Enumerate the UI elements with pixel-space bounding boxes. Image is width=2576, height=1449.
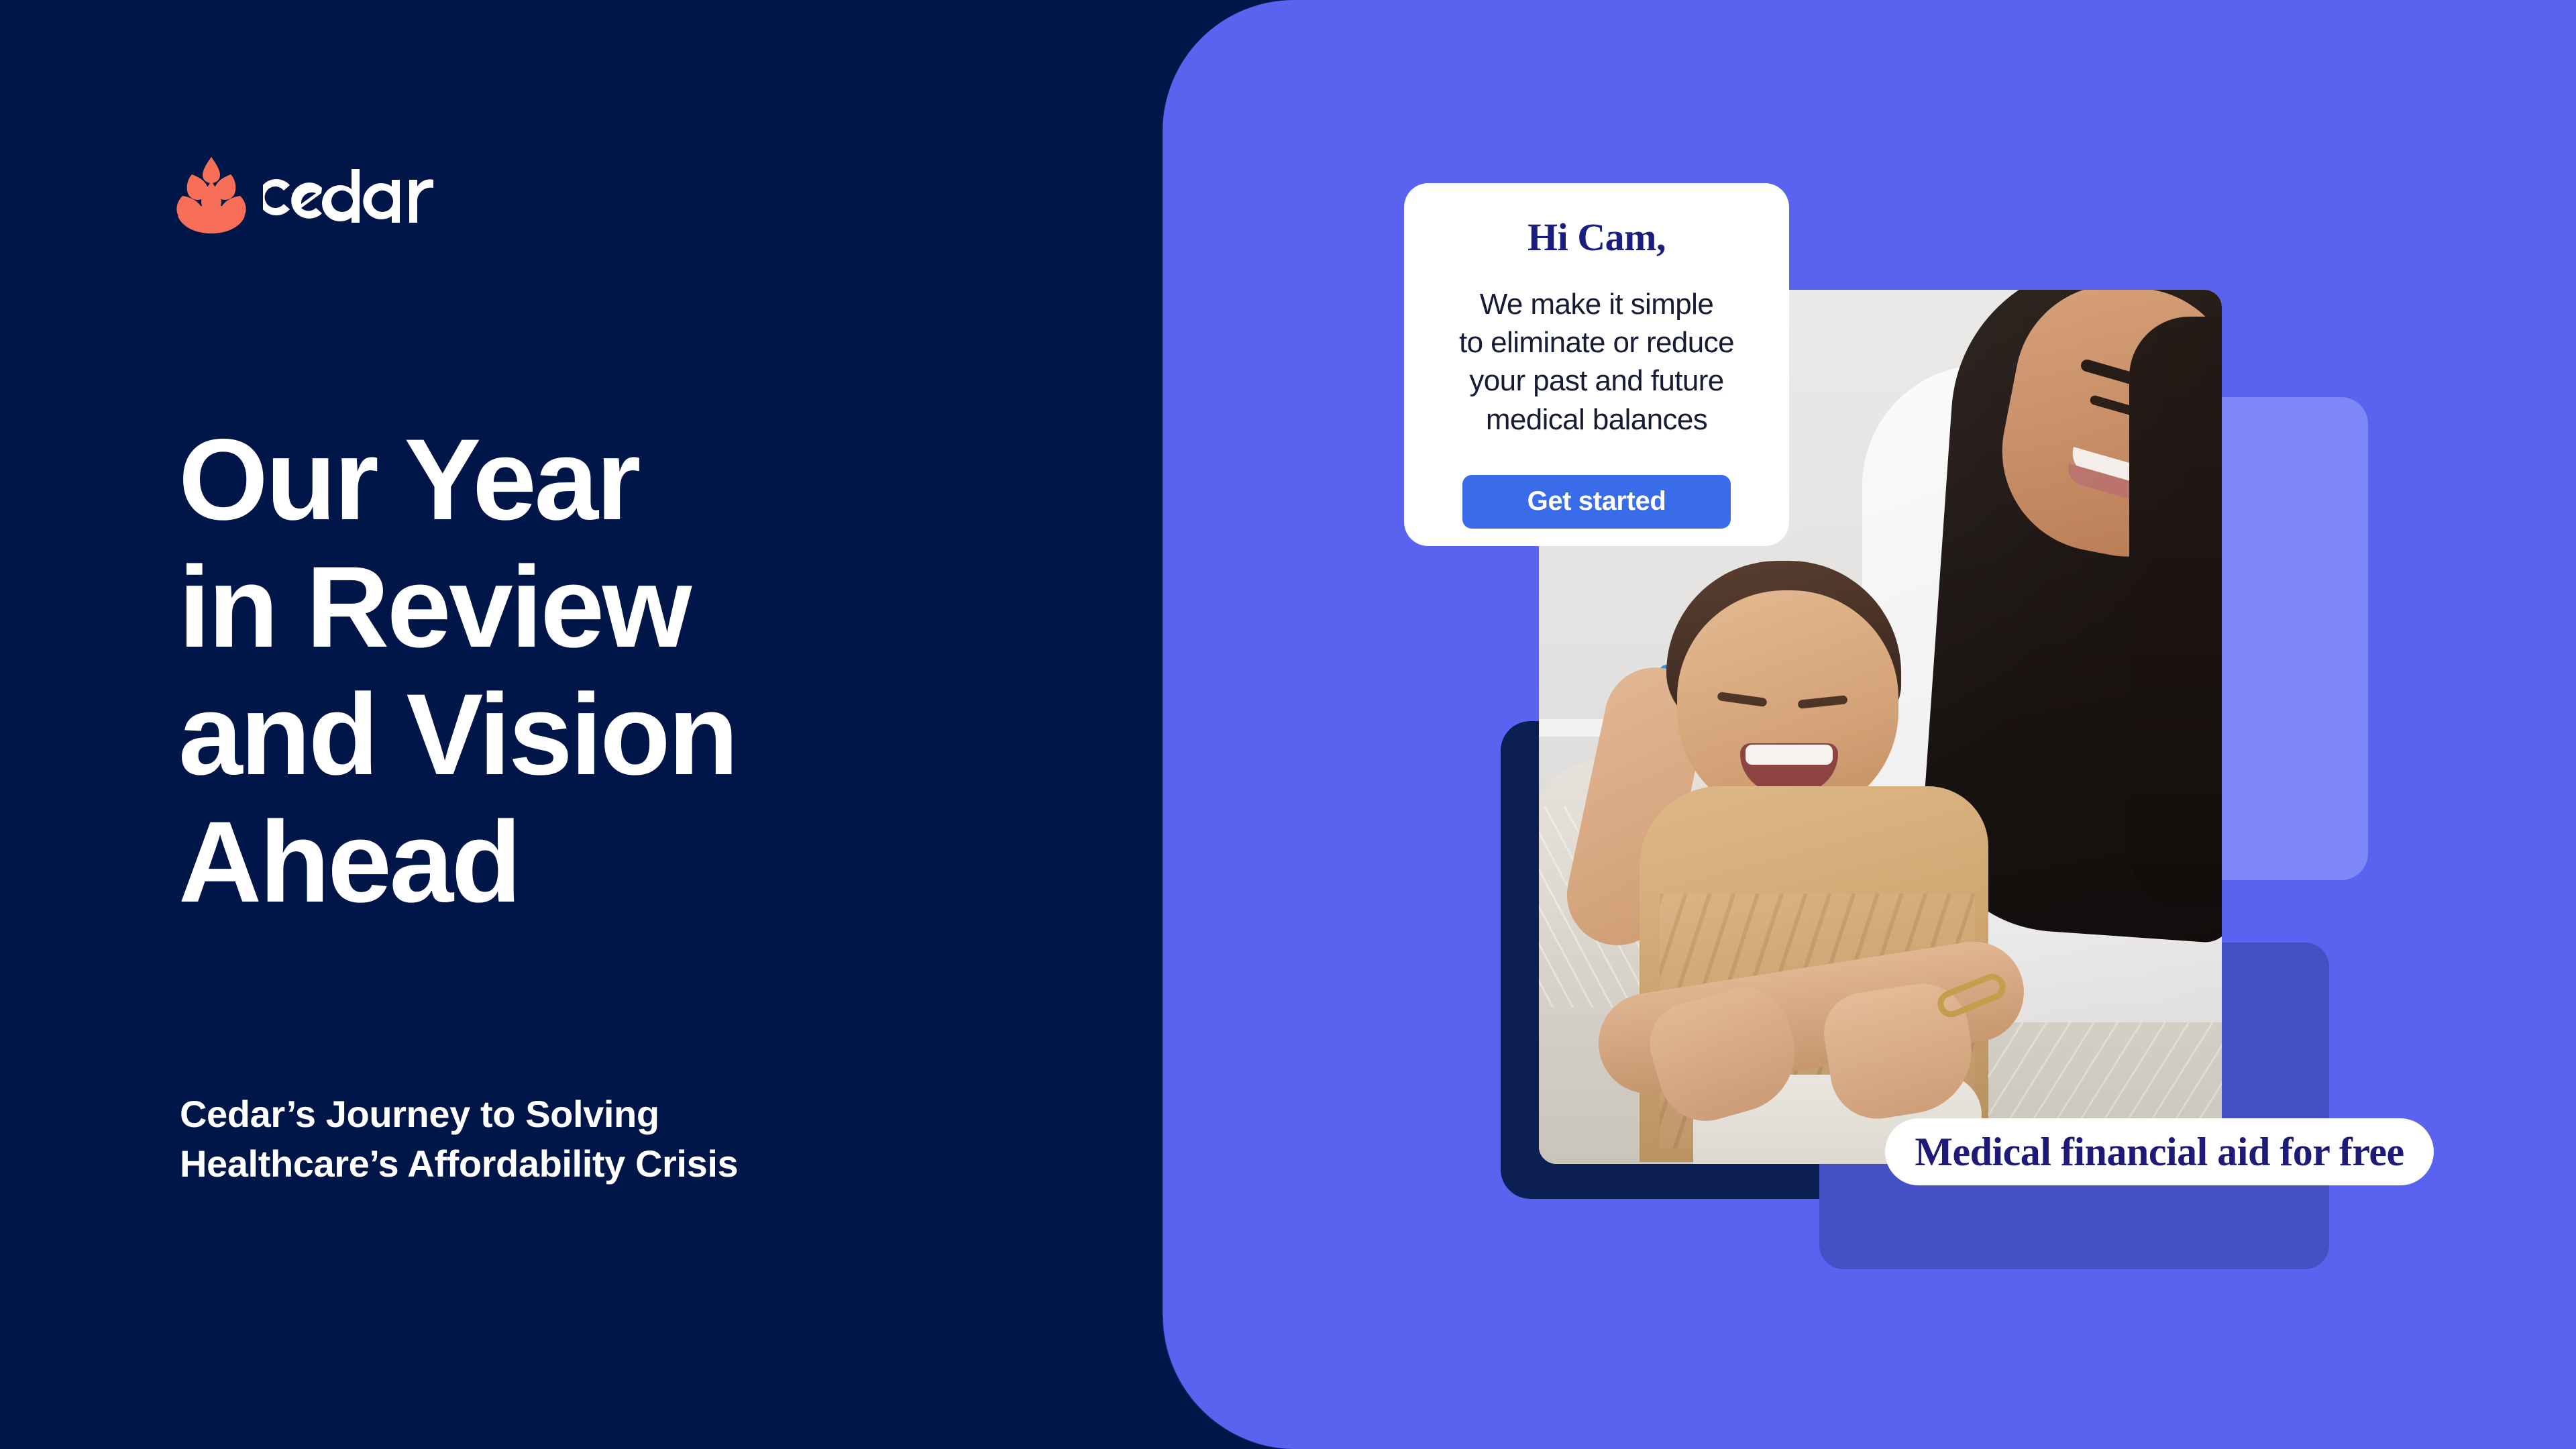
message-body-line-3: your past and future <box>1434 362 1760 400</box>
subtitle-line-2: Healthcare’s Affordability Crisis <box>180 1139 985 1189</box>
hero-visual-panel: Hi Cam, We make it simple to eliminate o… <box>1163 0 2576 1449</box>
page-subtitle: Cedar’s Journey to Solving Healthcare’s … <box>180 1089 985 1189</box>
status-badge-label: Medical financial aid for free <box>1915 1129 2404 1175</box>
headline-line-1: Our Year <box>178 416 983 543</box>
patient-message-card: Hi Cam, We make it simple to eliminate o… <box>1404 183 1789 546</box>
message-body-line-2: to eliminate or reduce <box>1434 323 1760 362</box>
status-badge: Medical financial aid for free <box>1885 1118 2434 1185</box>
cedar-logo[interactable] <box>176 154 464 233</box>
message-body-line-4: medical balances <box>1434 400 1760 439</box>
headline-line-4: Ahead <box>178 798 983 926</box>
message-greeting: Hi Cam, <box>1434 218 1760 257</box>
headline-line-2: in Review <box>178 543 983 671</box>
message-body-line-1: We make it simple <box>1434 285 1760 323</box>
cedar-wordmark <box>263 165 464 223</box>
message-body: We make it simple to eliminate or reduce… <box>1434 285 1760 439</box>
get-started-button[interactable]: Get started <box>1462 475 1731 529</box>
page-title: Our Year in Review and Vision Ahead <box>178 416 983 926</box>
cedar-pinecone-icon <box>176 154 247 233</box>
headline-line-3: and Vision <box>178 671 983 798</box>
hero-text-column: Our Year in Review and Vision Ahead Ceda… <box>0 0 1167 1449</box>
subtitle-line-1: Cedar’s Journey to Solving <box>180 1089 985 1139</box>
